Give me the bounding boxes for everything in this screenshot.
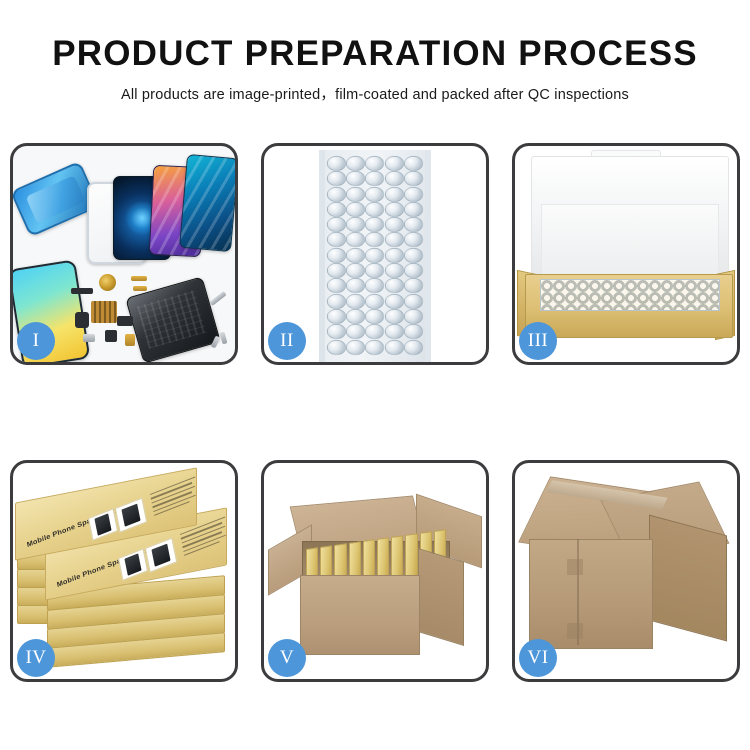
bubble (327, 217, 347, 233)
bubble (384, 263, 404, 279)
bubble (404, 309, 424, 325)
bubble (365, 171, 385, 187)
bubble (346, 202, 366, 218)
bubble (346, 232, 366, 248)
flex-cable-part-1 (131, 276, 147, 281)
header: PRODUCT PREPARATION PROCESS All products… (0, 0, 750, 104)
bubble (365, 186, 385, 202)
bubble (346, 248, 366, 264)
flex-cable-part-2 (133, 286, 147, 291)
bubble (365, 232, 385, 248)
bubble (327, 156, 347, 172)
bubble (365, 156, 385, 172)
step-badge-2: II (268, 322, 306, 360)
bubble (404, 232, 424, 248)
infographic-page: PRODUCT PREPARATION PROCESS All products… (0, 0, 750, 750)
bubble (346, 156, 366, 172)
page-title: PRODUCT PREPARATION PROCESS (0, 36, 750, 73)
bubble (346, 278, 366, 294)
bubble (404, 156, 424, 172)
bubble (404, 248, 424, 264)
bubble (384, 339, 404, 355)
bubble (346, 263, 366, 279)
step-panel-6: VI (512, 460, 740, 682)
bubble (327, 232, 347, 248)
steps-grid: I II III (10, 143, 740, 682)
bubble (384, 156, 404, 172)
vibration-motor-part (99, 274, 116, 291)
bubble (384, 294, 404, 310)
bubble (365, 294, 385, 310)
step-panel-5: V (261, 460, 489, 682)
bubble (404, 339, 424, 355)
bubble (327, 202, 347, 218)
bubble (365, 339, 385, 355)
bubble (384, 324, 404, 340)
step-panel-3: III (512, 143, 740, 365)
bubble (365, 202, 385, 218)
step-badge-3: III (519, 322, 557, 360)
bubble (384, 217, 404, 233)
screw-part-2 (220, 332, 228, 345)
speaker-part (71, 288, 93, 294)
sim-tray-part (83, 334, 95, 342)
camera-module-part (75, 312, 89, 328)
bubble (346, 217, 366, 233)
step-badge-5: V (268, 639, 306, 677)
bubble (327, 186, 347, 202)
bubble (327, 324, 347, 340)
bubble (404, 263, 424, 279)
bubble (365, 263, 385, 279)
box-thumbnail-1b (115, 498, 147, 533)
step-badge-6: VI (519, 639, 557, 677)
bubble (365, 324, 385, 340)
bubble (365, 248, 385, 264)
bubble (346, 324, 366, 340)
bubble (327, 339, 347, 355)
bubble (384, 278, 404, 294)
bubble (346, 186, 366, 202)
carton-tab-lower (567, 623, 583, 639)
bubble (384, 202, 404, 218)
bubble (327, 171, 347, 187)
step-panel-2: II (261, 143, 489, 365)
page-subtitle: All products are image-printed，film-coat… (0, 83, 750, 104)
bubble (365, 278, 385, 294)
button-part (105, 330, 117, 342)
box-thumbnail-2a (118, 548, 148, 581)
bubble (365, 217, 385, 233)
bubble (327, 278, 347, 294)
carton-tab-upper (567, 559, 583, 575)
bubble (346, 171, 366, 187)
chip-grid-part (91, 301, 117, 323)
bubble-wrapped-contents (540, 279, 720, 311)
bubble-grid (327, 156, 423, 356)
bubble (365, 309, 385, 325)
bubble (404, 171, 424, 187)
bubble (346, 339, 366, 355)
foam-sheet (541, 204, 719, 278)
bubble (404, 186, 424, 202)
bubble (327, 263, 347, 279)
bubble (346, 294, 366, 310)
box-thumbnail-2b (145, 538, 177, 573)
bubble (327, 248, 347, 264)
bubble (327, 309, 347, 325)
step-badge-4: IV (17, 639, 55, 677)
carton-right-face (649, 515, 727, 642)
carton-side-wall (418, 548, 464, 646)
carton-front-wall (300, 575, 420, 655)
step-panel-1: I (10, 143, 238, 365)
connector-part (117, 316, 133, 326)
tweezers-part (209, 291, 226, 306)
bubble (384, 186, 404, 202)
bubble (327, 294, 347, 310)
battery-connector-part (125, 334, 135, 346)
bubble (404, 294, 424, 310)
step-badge-1: I (17, 322, 55, 360)
teal-phone-image (179, 154, 235, 252)
bubble (384, 309, 404, 325)
bubble (404, 278, 424, 294)
box-thumbnail-1a (88, 508, 118, 541)
bubble (346, 309, 366, 325)
bubble (384, 248, 404, 264)
bubble (404, 217, 424, 233)
bubble (384, 171, 404, 187)
bubble (384, 232, 404, 248)
kraft-box-base (525, 274, 733, 338)
step-panel-4: Mobile Phone Spare Parts Mobile Phone Sp… (10, 460, 238, 682)
carton-front-face (529, 539, 653, 649)
box-spec-lines-1 (150, 477, 200, 519)
bubble (404, 202, 424, 218)
bubble (404, 324, 424, 340)
